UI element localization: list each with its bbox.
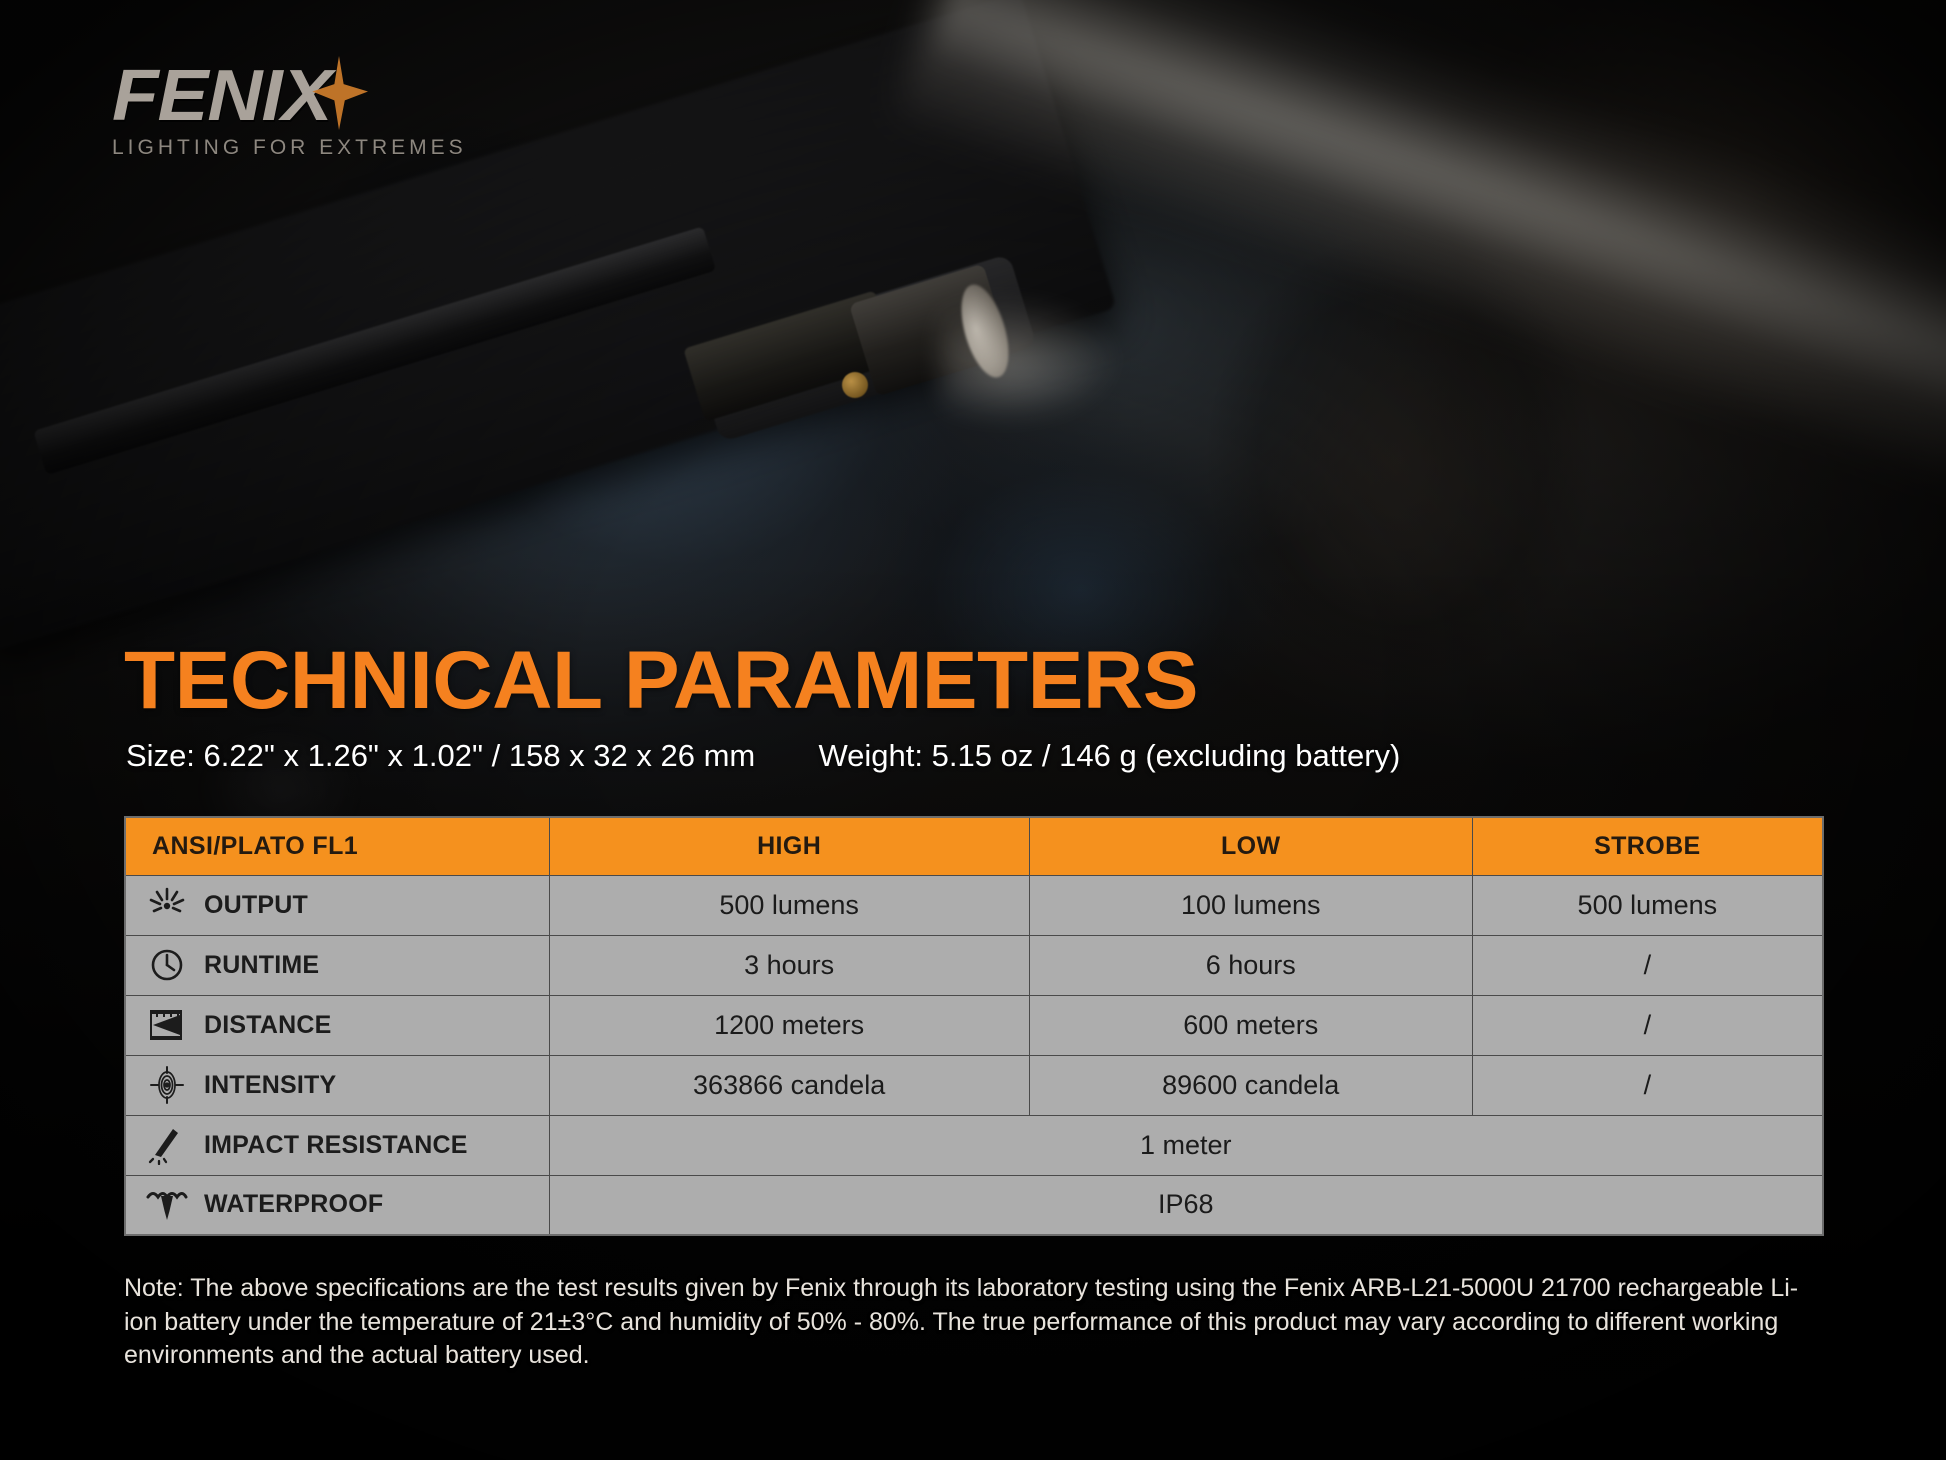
size-text: Size: 6.22" x 1.26" x 1.02" / 158 x 32 x… <box>126 738 755 773</box>
table-row: WATERPROOF IP68 <box>125 1175 1823 1235</box>
footnote: Note: The above specifications are the t… <box>124 1272 1824 1373</box>
cell-low: 100 lumens <box>1029 875 1472 935</box>
row-label-cell: IMPACT RESISTANCE <box>125 1115 549 1175</box>
specifications-table: ANSI/PLATO FL1 HIGH LOW STROBE <box>124 816 1824 1236</box>
row-label-cell: RUNTIME <box>125 935 549 995</box>
waterproof-icon <box>146 1184 188 1226</box>
cell-low: 600 meters <box>1029 995 1472 1055</box>
page-title: TECHNICAL PARAMETERS <box>124 634 1198 728</box>
table-row: IMPACT RESISTANCE 1 meter <box>125 1115 1823 1175</box>
table-row: INTENSITY 363866 candela 89600 candela / <box>125 1055 1823 1115</box>
output-burst-icon <box>146 884 188 926</box>
row-label: OUTPUT <box>204 891 308 920</box>
row-label-cell: DISTANCE <box>125 995 549 1055</box>
brand-logo: FENIX LIGHTING FOR EXTREMES <box>112 62 532 160</box>
cell-strobe: / <box>1472 1055 1823 1115</box>
table-row: RUNTIME 3 hours 6 hours / <box>125 935 1823 995</box>
row-label: WATERPROOF <box>204 1190 383 1219</box>
clock-icon <box>146 944 188 986</box>
col-header-high: HIGH <box>549 817 1029 875</box>
weight-text: Weight: 5.15 oz / 146 g (excluding batte… <box>818 738 1400 773</box>
row-label: DISTANCE <box>204 1011 332 1040</box>
cell-strobe: / <box>1472 995 1823 1055</box>
cell-high: 363866 candela <box>549 1055 1029 1115</box>
col-header-ansi: ANSI/PLATO FL1 <box>125 817 549 875</box>
logo-tagline: LIGHTING FOR EXTREMES <box>112 136 532 160</box>
row-label: IMPACT RESISTANCE <box>204 1131 468 1160</box>
cell-high: 500 lumens <box>549 875 1029 935</box>
row-label-cell: INTENSITY <box>125 1055 549 1115</box>
row-label: INTENSITY <box>204 1071 336 1100</box>
col-header-low: LOW <box>1029 817 1472 875</box>
table-header-row: ANSI/PLATO FL1 HIGH LOW STROBE <box>125 817 1823 875</box>
cell-high: 1200 meters <box>549 995 1029 1055</box>
row-label: RUNTIME <box>204 951 319 980</box>
cell-merged-waterproof: IP68 <box>549 1175 1823 1235</box>
impact-icon <box>146 1124 188 1166</box>
row-label-cell: OUTPUT <box>125 875 549 935</box>
distance-icon <box>146 1004 188 1046</box>
cell-strobe: 500 lumens <box>1472 875 1823 935</box>
dimensions-line: Size: 6.22" x 1.26" x 1.02" / 158 x 32 x… <box>126 738 1400 774</box>
intensity-icon <box>146 1064 188 1106</box>
row-label-cell: WATERPROOF <box>125 1175 549 1235</box>
cell-merged-impact: 1 meter <box>549 1115 1823 1175</box>
table-body: OUTPUT 500 lumens 100 lumens 500 lumens <box>125 875 1823 1235</box>
table-row: OUTPUT 500 lumens 100 lumens 500 lumens <box>125 875 1823 935</box>
cell-strobe: / <box>1472 935 1823 995</box>
table-row: DISTANCE 1200 meters 600 meters / <box>125 995 1823 1055</box>
cell-low: 6 hours <box>1029 935 1472 995</box>
cell-low: 89600 candela <box>1029 1055 1472 1115</box>
cell-high: 3 hours <box>549 935 1029 995</box>
col-header-strobe: STROBE <box>1472 817 1823 875</box>
